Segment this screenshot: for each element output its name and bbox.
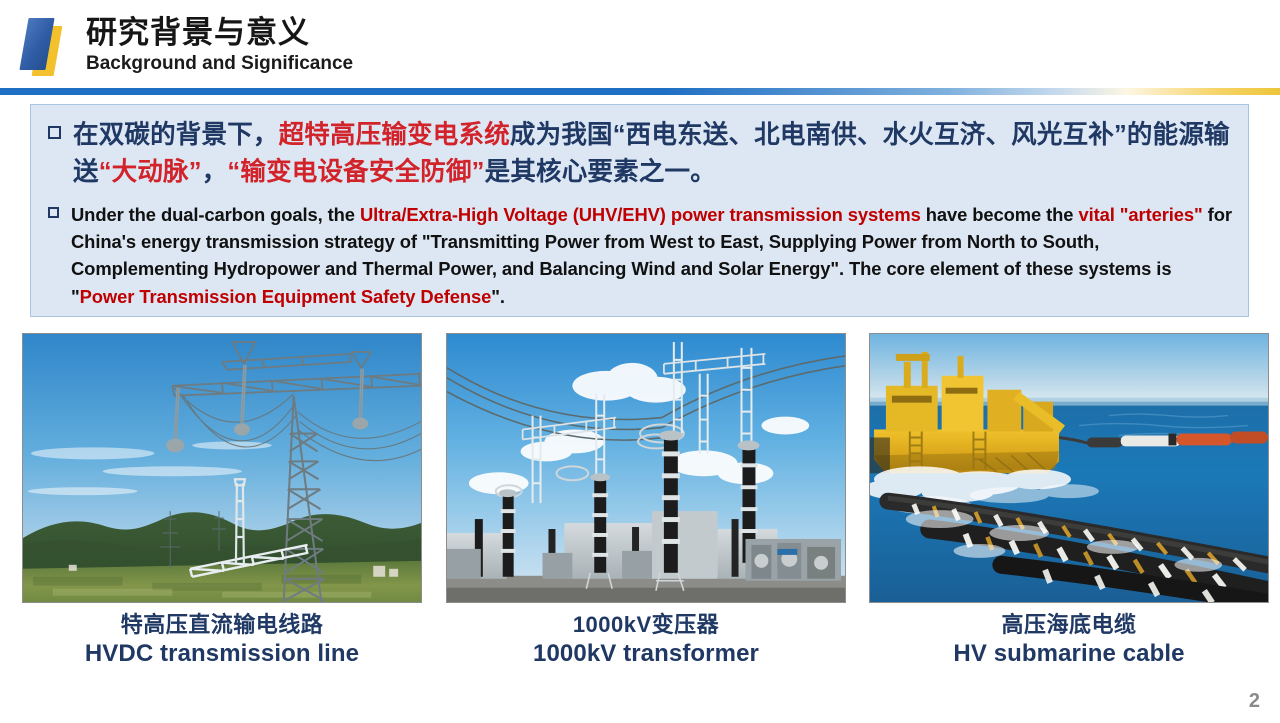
caption-en: HVDC transmission line	[22, 639, 422, 668]
bullet-text-cn: 在双碳的背景下，超特高压输变电系统成为我国“西电东送、北电南供、水火互济、风光互…	[73, 117, 1232, 191]
caption-en: 1000kV transformer	[446, 639, 846, 668]
cn-seg-3-highlight: “大动脉”	[99, 158, 202, 186]
figure-hvdc-transmission-line	[22, 333, 422, 603]
en-seg-2: have become the	[921, 204, 1079, 225]
page-title-cn: 研究背景与意义	[86, 14, 353, 52]
bullet-item-en: Under the dual-carbon goals, the Ultra/E…	[31, 191, 1248, 310]
caption-cn: 特高压直流输电线路	[22, 612, 422, 639]
cn-seg-5-highlight: “输变电设备安全防御”	[227, 158, 484, 186]
slide: 研究背景与意义 Background and Significance 在双碳的…	[0, 0, 1280, 723]
en-seg-5-highlight: Power Transmission Equipment Safety Defe…	[80, 286, 492, 307]
content-text-panel: 在双碳的背景下，超特高压输变电系统成为我国“西电东送、北电南供、水火互济、风光互…	[30, 104, 1249, 317]
caption-hvdc-transmission-line: 特高压直流输电线路 HVDC transmission line	[22, 612, 422, 668]
caption-en: HV submarine cable	[869, 639, 1269, 668]
hvdc-transmission-line-image	[23, 334, 421, 603]
figure-uhv-transformer	[446, 333, 846, 603]
caption-row: 特高压直流输电线路 HVDC transmission line 1000kV变…	[0, 612, 1280, 682]
en-seg-6: ".	[491, 286, 505, 307]
cn-seg-4: ，	[202, 158, 228, 186]
caption-hv-submarine-cable: 高压海底电缆 HV submarine cable	[869, 612, 1269, 668]
figure-row	[0, 333, 1280, 608]
en-seg-0: Under the dual-carbon goals, the	[71, 204, 360, 225]
cn-seg-0: 在双碳的背景下，	[73, 121, 279, 149]
caption-uhv-transformer: 1000kV变压器 1000kV transformer	[446, 612, 846, 668]
uhv-transformer-image	[447, 334, 845, 603]
hv-submarine-cable-image	[870, 334, 1268, 603]
page-title-en: Background and Significance	[86, 53, 353, 76]
en-seg-3-highlight: vital "arteries"	[1078, 204, 1202, 225]
square-bullet-icon	[48, 207, 59, 218]
header-title-group: 研究背景与意义 Background and Significance	[86, 14, 353, 76]
figure-hv-submarine-cable	[869, 333, 1269, 603]
slide-header: 研究背景与意义 Background and Significance	[0, 0, 1280, 88]
caption-cn: 1000kV变压器	[446, 612, 846, 639]
cn-seg-1-highlight: 超特高压输变电系统	[279, 121, 510, 149]
page-number: 2	[1249, 690, 1260, 713]
square-bullet-icon	[48, 126, 61, 139]
parallelogram-logo-icon	[22, 16, 74, 74]
en-seg-1-highlight: Ultra/Extra-High Voltage (UHV/EHV) power…	[360, 204, 921, 225]
cn-seg-6: 是其核心要素之一。	[485, 158, 716, 186]
bullet-text-en: Under the dual-carbon goals, the Ultra/E…	[71, 201, 1232, 310]
caption-cn: 高压海底电缆	[869, 612, 1269, 639]
header-divider	[0, 88, 1280, 95]
bullet-item-cn: 在双碳的背景下，超特高压输变电系统成为我国“西电东送、北电南供、水火互济、风光互…	[31, 105, 1248, 191]
